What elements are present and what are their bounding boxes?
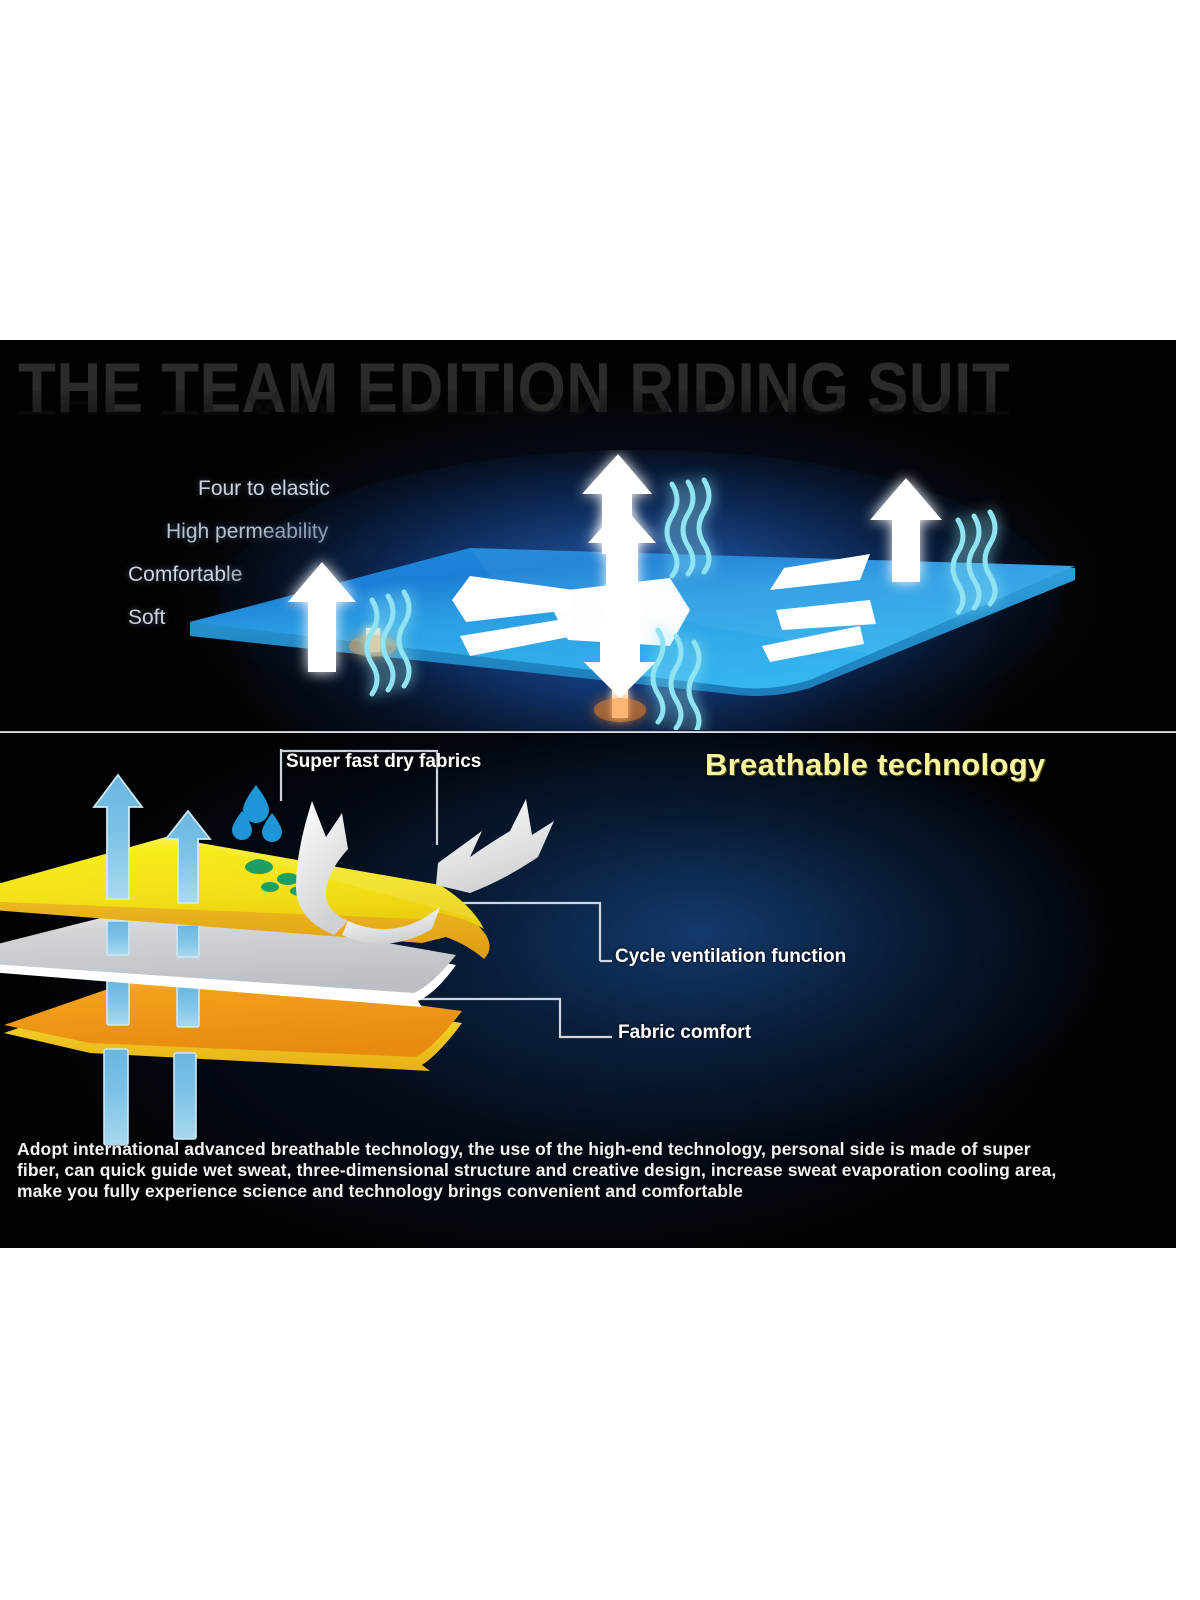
- water-drops-group: [232, 785, 282, 842]
- panel-fabric-layers: Breathable technology: [0, 733, 1176, 1248]
- infographic-canvas: THE TEAM EDITION RIDING SUIT THE TEAM ED…: [0, 0, 1200, 1600]
- flow-arrows-bottom: [104, 1049, 196, 1145]
- page-title-reflection: THE TEAM EDITION RIDING SUIT: [18, 383, 1010, 422]
- callout-label-cycle-ventilation-function: Cycle ventilation function: [615, 946, 846, 968]
- fabric-layers-diagram: [0, 753, 610, 1153]
- water-drop-1: [243, 785, 269, 823]
- section-heading-breathable-technology: Breathable technology: [705, 747, 1045, 783]
- description-paragraph: Adopt international advanced breathable …: [17, 1139, 1077, 1202]
- vent-arrow-up-right: [436, 799, 554, 893]
- panel-breathable-sheet: THE TEAM EDITION RIDING SUIT THE TEAM ED…: [0, 340, 1176, 732]
- callout-label-super-fast-dry-fabrics: Super fast dry fabrics: [286, 751, 481, 773]
- breathable-sheet-diagram: [170, 450, 1090, 730]
- callout-label-fabric-comfort: Fabric comfort: [618, 1022, 751, 1044]
